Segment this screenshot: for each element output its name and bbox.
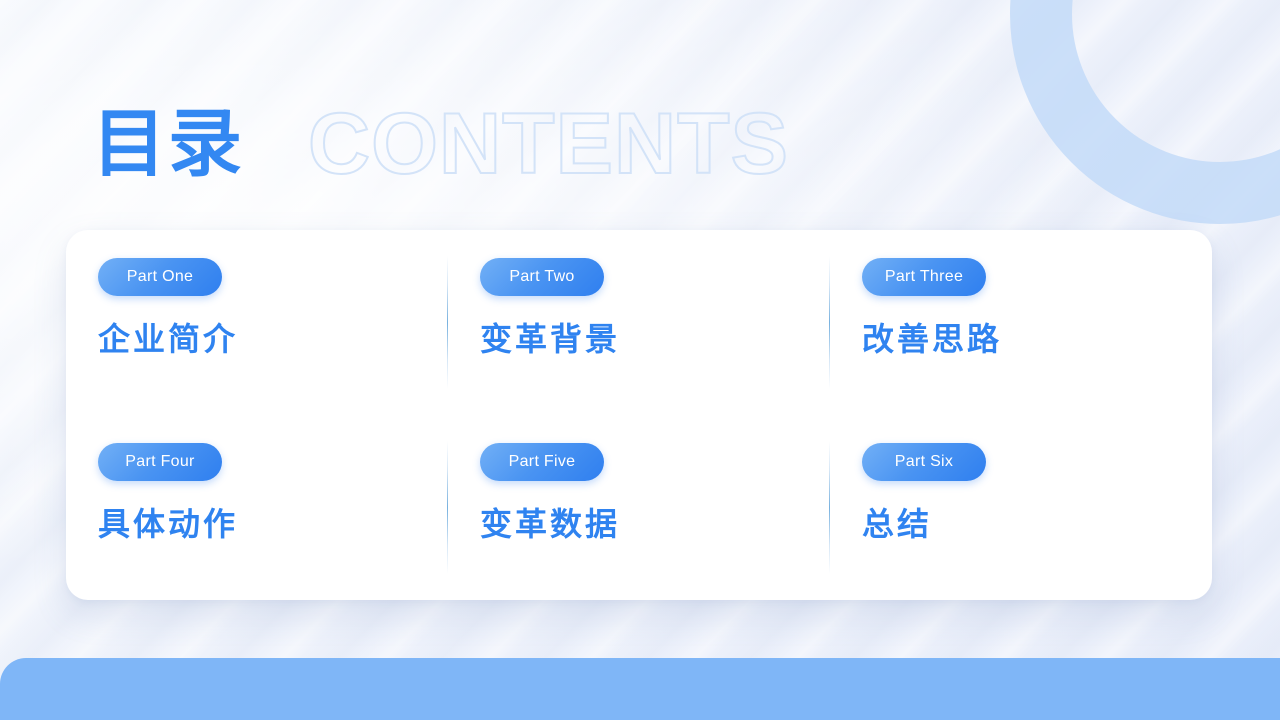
contents-item-title[interactable]: 变革数据 [480,507,830,542]
part-badge[interactable]: Part Four [98,443,222,481]
part-badge[interactable]: Part Six [862,443,986,481]
contents-item-3[interactable]: Part Three 改善思路 [830,230,1212,415]
contents-item-5[interactable]: Part Five 变革数据 [448,415,830,600]
decorative-ring-shape [1010,0,1280,224]
bottom-accent-bar [0,658,1280,720]
contents-grid: Part One 企业简介 Part Two 变革背景 Part Three 改… [66,230,1212,600]
slide-root: 目录 CONTENTS Part One 企业简介 Part Two 变革背景 … [0,0,1280,720]
contents-item-title[interactable]: 企业简介 [98,322,448,357]
contents-item-title[interactable]: 变革背景 [480,322,830,357]
part-badge[interactable]: Part One [98,258,222,296]
part-badge[interactable]: Part Five [480,443,604,481]
contents-item-1[interactable]: Part One 企业简介 [66,230,448,415]
page-title-english-outline: CONTENTS [308,101,789,187]
contents-item-6[interactable]: Part Six 总结 [830,415,1212,600]
part-badge[interactable]: Part Two [480,258,604,296]
part-badge[interactable]: Part Three [862,258,986,296]
contents-item-4[interactable]: Part Four 具体动作 [66,415,448,600]
contents-item-title[interactable]: 改善思路 [862,322,1212,357]
page-title-chinese: 目录 [92,107,244,181]
contents-card: Part One 企业简介 Part Two 变革背景 Part Three 改… [66,230,1212,600]
contents-item-title[interactable]: 总结 [862,507,1212,542]
contents-item-title[interactable]: 具体动作 [98,507,448,542]
page-title: 目录 CONTENTS [92,96,789,192]
contents-item-2[interactable]: Part Two 变革背景 [448,230,830,415]
